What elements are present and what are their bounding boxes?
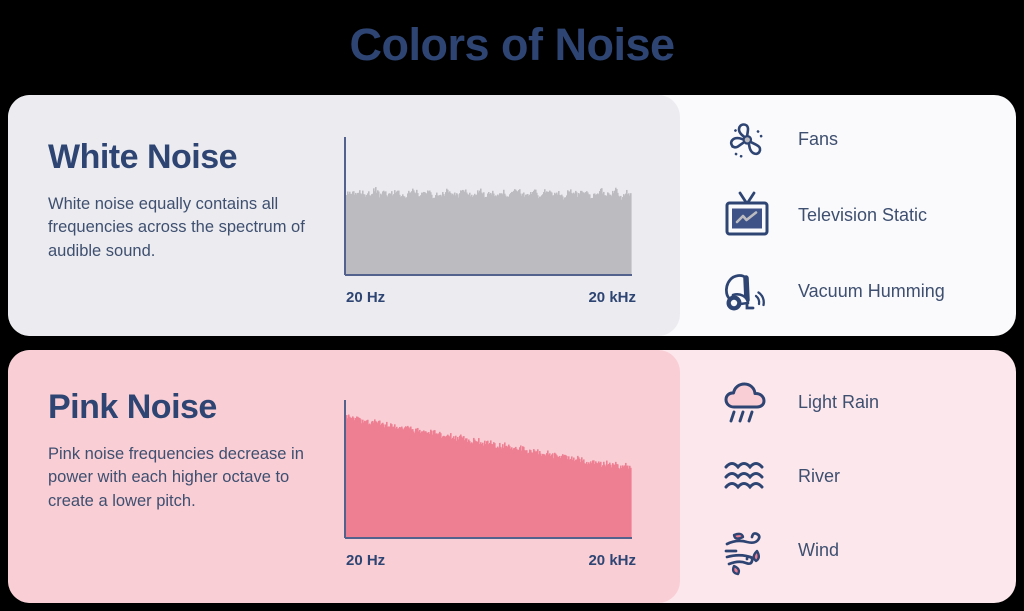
list-item-label: Television Static	[798, 205, 927, 226]
white-noise-bars	[346, 187, 632, 274]
list-item-label: Wind	[798, 540, 839, 561]
pink-noise-axis-labels: 20 Hz 20 kHz	[346, 552, 636, 569]
white-noise-text-block: White Noise White noise equally contains…	[8, 95, 328, 263]
list-item[interactable]: River	[718, 446, 1016, 508]
list-item[interactable]: Wind	[718, 520, 1016, 582]
wind-icon	[718, 522, 776, 580]
list-item-label: Fans	[798, 129, 838, 150]
white-noise-info-panel: White Noise White noise equally contains…	[8, 95, 680, 336]
pink-noise-text-block: Pink Noise Pink noise frequencies decrea…	[8, 350, 328, 513]
white-noise-card: White Noise White noise equally contains…	[8, 95, 1016, 336]
list-item[interactable]: Fans	[718, 109, 1016, 171]
pink-noise-bars	[346, 415, 632, 537]
white-noise-source-list: Fans Television Static	[680, 95, 1016, 336]
page-title: Colors of Noise	[0, 0, 1024, 95]
rain-cloud-icon	[718, 374, 776, 432]
white-noise-heading: White Noise	[48, 140, 328, 176]
x-axis-max-label: 20 kHz	[588, 289, 636, 306]
fan-icon	[718, 111, 776, 169]
x-axis-max-label: 20 kHz	[588, 552, 636, 569]
water-waves-icon	[718, 448, 776, 506]
list-item[interactable]: Television Static	[718, 185, 1016, 247]
white-noise-axis-labels: 20 Hz 20 kHz	[346, 289, 636, 306]
list-item[interactable]: Light Rain	[718, 372, 1016, 434]
pink-noise-card: Pink Noise Pink noise frequencies decrea…	[8, 350, 1016, 603]
white-noise-chart: 20 Hz 20 kHz	[334, 135, 636, 306]
white-noise-spectrum-svg	[334, 135, 634, 285]
pink-noise-info-panel: Pink Noise Pink noise frequencies decrea…	[8, 350, 680, 603]
x-axis-min-label: 20 Hz	[346, 289, 385, 306]
list-item-label: River	[798, 466, 840, 487]
list-item-label: Light Rain	[798, 392, 879, 413]
pink-noise-heading: Pink Noise	[48, 390, 328, 426]
vacuum-icon	[718, 263, 776, 321]
list-item[interactable]: Vacuum Humming	[718, 261, 1016, 323]
x-axis-min-label: 20 Hz	[346, 552, 385, 569]
television-icon	[718, 187, 776, 245]
pink-noise-chart: 20 Hz 20 kHz	[334, 398, 636, 569]
pink-noise-spectrum-svg	[334, 398, 634, 548]
pink-noise-description: Pink noise frequencies decrease in power…	[48, 443, 328, 513]
pink-noise-source-list: Light Rain River	[680, 350, 1016, 603]
list-item-label: Vacuum Humming	[798, 281, 945, 302]
white-noise-description: White noise equally contains all frequen…	[48, 193, 328, 263]
